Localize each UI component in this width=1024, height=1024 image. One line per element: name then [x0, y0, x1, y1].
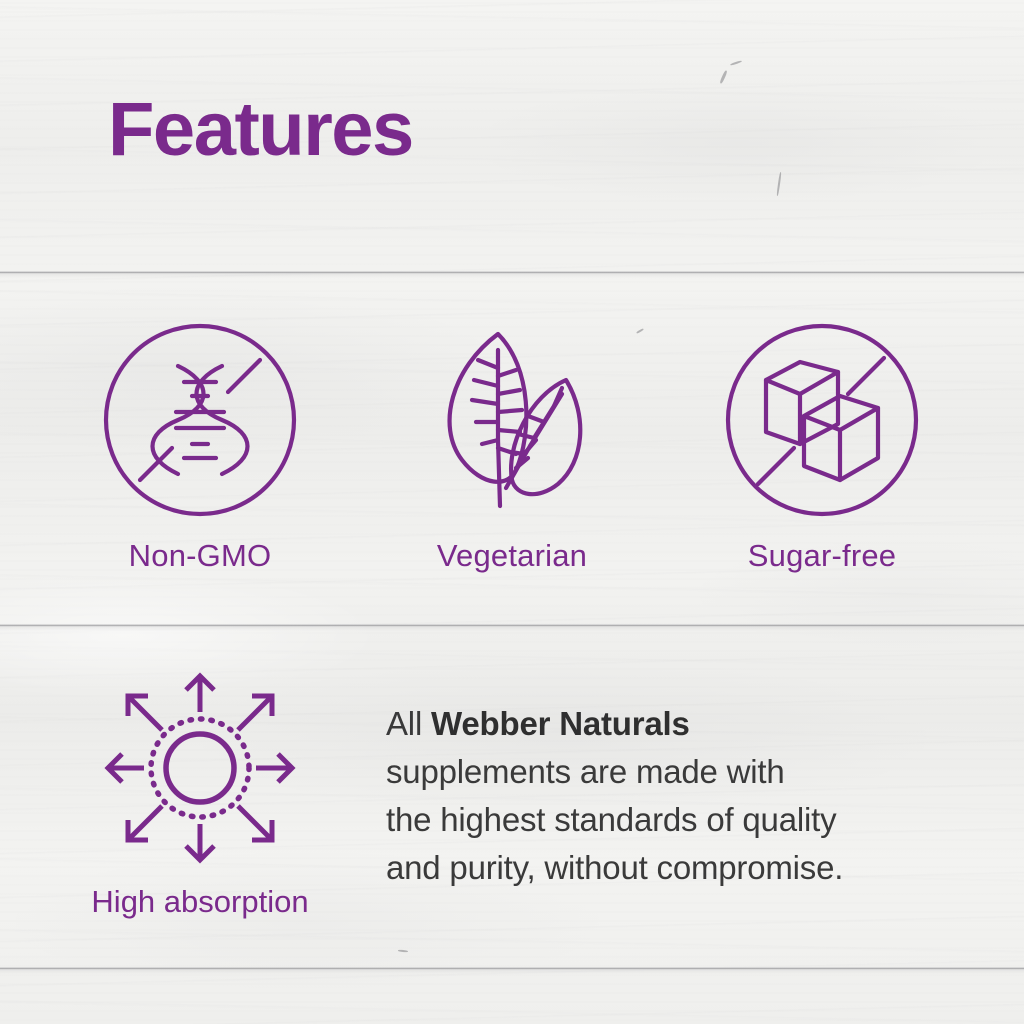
feature-label-vegetarian: Vegetarian: [382, 538, 642, 574]
feature-label-high-absorption: High absorption: [62, 884, 338, 920]
feature-item-sugar-free: Sugar-free: [692, 320, 952, 574]
high-absorption-icon-box: [62, 668, 338, 868]
sugar-free-icon-box: [692, 320, 952, 520]
radiating-arrows-circle-icon: [100, 668, 300, 868]
feature-graphic-canvas: Features: [0, 0, 1024, 1024]
feature-item-non-gmo: Non-GMO: [70, 320, 330, 574]
dna-strikethrough-circle-icon: [100, 320, 300, 520]
brand-statement-prefix: All: [386, 705, 431, 742]
feature-label-sugar-free: Sugar-free: [692, 538, 952, 574]
page-title: Features: [108, 92, 413, 168]
brand-statement-line-2: supplements are made with: [386, 748, 946, 796]
feature-label-non-gmo: Non-GMO: [70, 538, 330, 574]
brand-statement-line-3: the highest standards of quality: [386, 796, 946, 844]
feature-item-vegetarian: Vegetarian: [382, 320, 642, 574]
brand-statement-line-1: All Webber Naturals: [386, 700, 946, 748]
non-gmo-icon-box: [70, 320, 330, 520]
two-leaves-icon: [412, 320, 612, 520]
brand-name: Webber Naturals: [431, 705, 690, 742]
brand-statement: All Webber Naturals supplements are made…: [386, 700, 946, 892]
plank-seam-middle: [0, 624, 1024, 627]
brand-statement-line-4: and purity, without compromise.: [386, 844, 946, 892]
plank-seam-top: [0, 271, 1024, 274]
sugar-cubes-strikethrough-circle-icon: [722, 320, 922, 520]
feature-item-high-absorption: High absorption: [62, 668, 338, 920]
plank-seam-bottom: [0, 967, 1024, 970]
vegetarian-icon-box: [382, 320, 642, 520]
